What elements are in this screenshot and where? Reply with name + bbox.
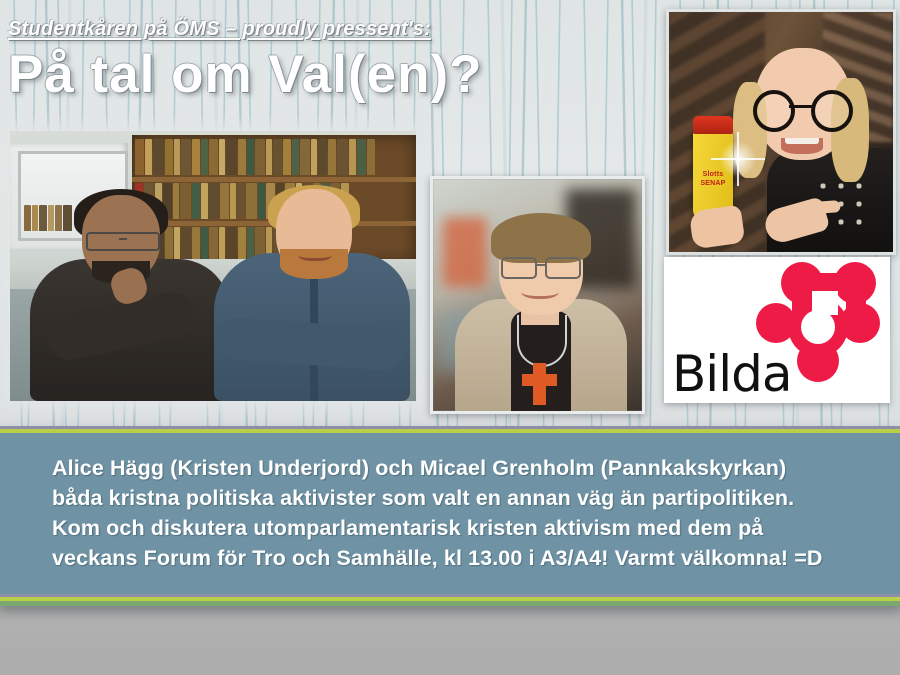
description-line-2: båda kristna politiska aktivister som va… bbox=[52, 484, 882, 513]
bilda-wordmark: Bilda bbox=[672, 349, 791, 399]
sparkle-icon bbox=[717, 138, 759, 180]
description-line-3: Kom och diskutera utomparlamentarisk kri… bbox=[52, 514, 882, 543]
photo-man-with-cross-necklace bbox=[430, 176, 645, 414]
person-left bbox=[30, 189, 230, 401]
bottle-product-label: SENAP bbox=[695, 179, 731, 188]
info-text-band: Alice Hägg (Kristen Underjord) och Micae… bbox=[0, 426, 900, 606]
bilda-logo-panel: Bilda bbox=[664, 257, 890, 403]
slide-background-lower bbox=[0, 605, 900, 675]
person-right bbox=[210, 181, 410, 401]
photo-two-men-library bbox=[10, 131, 416, 401]
photo-woman-with-mustard-bottle: Slotts SENAP bbox=[666, 9, 896, 255]
band-rule-top-green bbox=[0, 429, 900, 433]
band-rule-bottom-seagreen bbox=[0, 601, 900, 606]
event-description: Alice Hägg (Kristen Underjord) och Micae… bbox=[52, 454, 882, 574]
description-line-4: veckans Forum för Tro och Samhälle, kl 1… bbox=[52, 544, 882, 573]
slide-canvas: Studentkåren på ÖMS – proudly pressent's… bbox=[0, 0, 900, 675]
cross-necklace-icon bbox=[533, 363, 546, 405]
round-glasses-icon bbox=[753, 90, 853, 124]
description-line-1: Alice Hägg (Kristen Underjord) och Micae… bbox=[52, 454, 882, 483]
